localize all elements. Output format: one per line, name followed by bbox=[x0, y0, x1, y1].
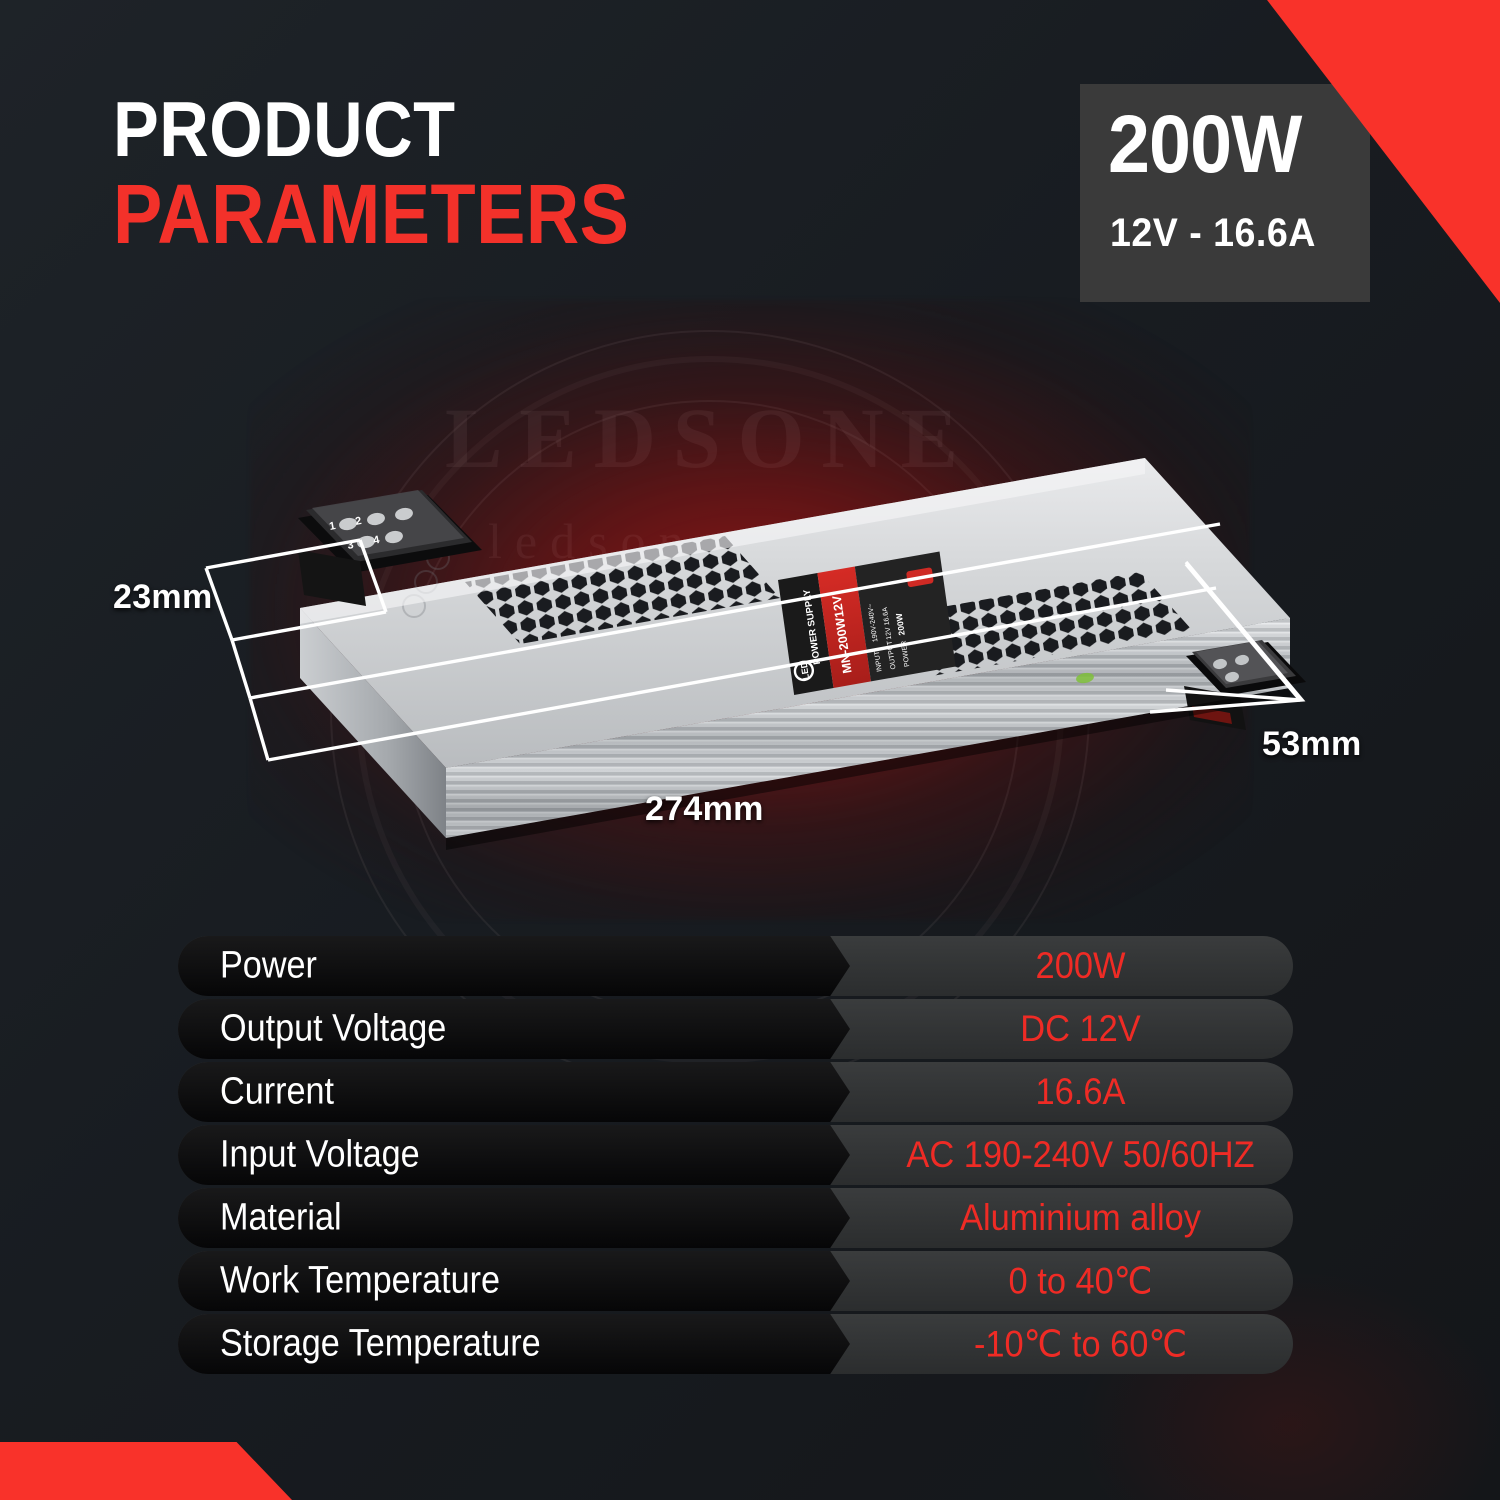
spec-label: Output Voltage bbox=[220, 1008, 446, 1051]
product-illustration: LED POWER SUPPLY MN-200W12V INPUT OUTPUT… bbox=[180, 430, 1310, 880]
table-row: Work Temperature 0 to 40℃ bbox=[178, 1251, 1293, 1311]
spec-value: 0 to 40℃ bbox=[883, 1260, 1278, 1303]
page-title: PRODUCT PARAMETERS bbox=[113, 92, 700, 255]
spec-label: Work Temperature bbox=[220, 1260, 500, 1303]
bottom-left-red-accent bbox=[0, 1442, 292, 1500]
wattage-badge-value: 200W bbox=[1108, 104, 1301, 186]
table-row: Storage Temperature -10℃ to 60℃ bbox=[178, 1314, 1293, 1374]
spec-value: 16.6A bbox=[883, 1071, 1278, 1113]
infographic-canvas: LEDSONE ledsone.co.uk ★ VINTAGE LIGHTS P… bbox=[0, 0, 1500, 1500]
table-row: Material Aluminium alloy bbox=[178, 1188, 1293, 1248]
spec-value: Aluminium alloy bbox=[883, 1197, 1278, 1239]
spec-label: Current bbox=[220, 1071, 334, 1114]
spec-label: Input Voltage bbox=[220, 1134, 420, 1177]
spec-label: Storage Temperature bbox=[220, 1323, 541, 1366]
spec-table: Power 200W Output Voltage DC 12V Current… bbox=[178, 936, 1293, 1377]
spec-value: DC 12V bbox=[883, 1008, 1278, 1050]
title-line-product: PRODUCT bbox=[113, 92, 629, 168]
spec-value: -10℃ to 60℃ bbox=[883, 1323, 1278, 1366]
title-line-parameters: PARAMETERS bbox=[113, 174, 629, 255]
table-row: Input Voltage AC 190-240V 50/60HZ bbox=[178, 1125, 1293, 1185]
wattage-badge-subtitle: 12V - 16.6A bbox=[1110, 213, 1316, 253]
spec-value: 200W bbox=[883, 945, 1278, 987]
spec-label: Material bbox=[220, 1197, 342, 1240]
spec-value: AC 190-240V 50/60HZ bbox=[883, 1134, 1278, 1176]
product-photo: LED POWER SUPPLY MN-200W12V INPUT OUTPUT… bbox=[180, 430, 1310, 880]
table-row: Output Voltage DC 12V bbox=[178, 999, 1293, 1059]
table-row: Power 200W bbox=[178, 936, 1293, 996]
table-row: Current 16.6A bbox=[178, 1062, 1293, 1122]
spec-label: Power bbox=[220, 945, 317, 988]
